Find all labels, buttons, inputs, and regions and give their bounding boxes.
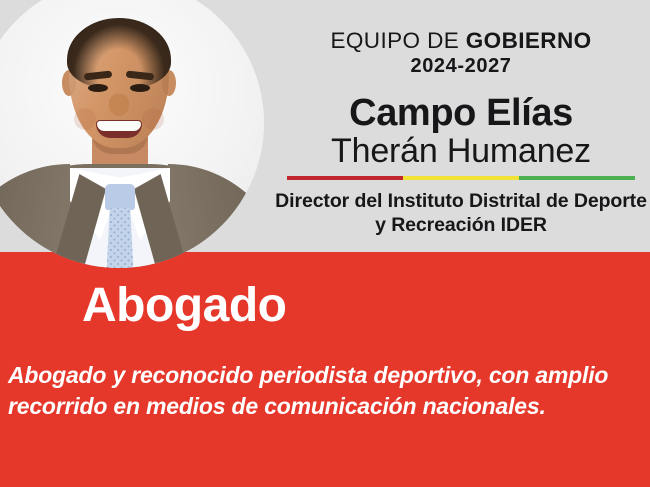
eye-left-shape bbox=[88, 84, 108, 92]
tricolor-divider bbox=[287, 176, 635, 180]
tricolor-red-segment bbox=[287, 176, 403, 180]
profile-card: EQUIPO DE GOBIERNO 2024-2027 Campo Elías… bbox=[0, 0, 650, 487]
program-years: 2024-2027 bbox=[272, 53, 650, 79]
header-text-column: EQUIPO DE GOBIERNO 2024-2027 Campo Elías… bbox=[272, 0, 650, 252]
portrait-photo bbox=[0, 0, 264, 268]
tricolor-yellow-segment bbox=[403, 176, 519, 180]
person-first-name: Campo Elías bbox=[272, 79, 650, 133]
profession-title: Abogado bbox=[82, 282, 286, 330]
mouth-shape bbox=[96, 120, 142, 138]
teeth-shape bbox=[97, 121, 141, 131]
program-eyebrow-strong: GOBIERNO bbox=[466, 28, 592, 53]
program-eyebrow: EQUIPO DE GOBIERNO bbox=[272, 0, 650, 53]
eye-right-shape bbox=[130, 84, 150, 92]
program-eyebrow-prefix: EQUIPO DE bbox=[331, 28, 466, 53]
bio-text: Abogado y reconocido periodista deportiv… bbox=[8, 360, 644, 421]
hair-shape bbox=[67, 18, 171, 88]
portrait-block bbox=[0, 0, 264, 268]
person-role: Director del Instituto Distrital de Depo… bbox=[272, 180, 650, 237]
person-last-name: Therán Humanez bbox=[272, 133, 650, 170]
cheek-right-shape bbox=[142, 108, 164, 130]
tie-knot-shape bbox=[105, 184, 135, 210]
nose-shape bbox=[109, 94, 129, 116]
tricolor-green-segment bbox=[519, 176, 635, 180]
cheek-left-shape bbox=[74, 108, 96, 130]
